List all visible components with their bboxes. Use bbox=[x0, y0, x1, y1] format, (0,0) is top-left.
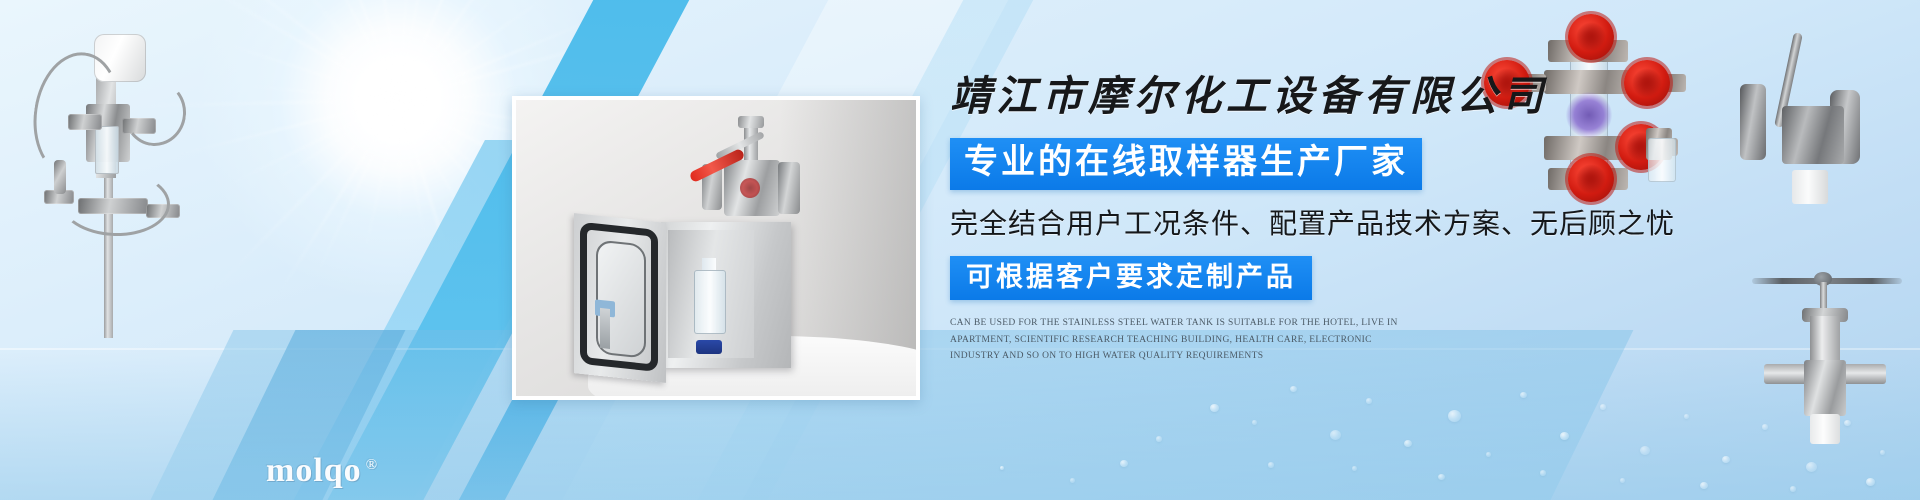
lever-valve-flange-left bbox=[1740, 84, 1766, 160]
lever-valve-body bbox=[1782, 106, 1844, 164]
water-droplet bbox=[1486, 452, 1491, 457]
gate-valve-body bbox=[1804, 360, 1846, 416]
water-droplet bbox=[1684, 414, 1689, 419]
sun-ray bbox=[277, 99, 400, 296]
sun-ray bbox=[398, 0, 488, 100]
sun-ray bbox=[317, 0, 400, 100]
handwheel-top bbox=[1568, 14, 1614, 60]
water-droplet bbox=[1330, 430, 1341, 440]
water-droplet bbox=[1156, 436, 1162, 442]
blue-bottle-cap bbox=[696, 340, 722, 354]
sun-ray bbox=[188, 0, 400, 101]
sun-ray bbox=[364, 100, 400, 254]
water-droplet bbox=[1620, 478, 1625, 483]
brand-watermark: molqo® bbox=[266, 452, 378, 490]
capillary-tube-right bbox=[121, 77, 190, 149]
sun-ray bbox=[398, 0, 434, 100]
sun-ray bbox=[203, 0, 400, 101]
capillary-tube-lower bbox=[59, 168, 171, 238]
sun-ray bbox=[211, 99, 400, 293]
valve-top-cap bbox=[738, 116, 764, 128]
sampler-collection-bottle bbox=[1648, 138, 1676, 182]
sun-ray bbox=[398, 100, 426, 239]
sun-ray bbox=[311, 0, 400, 100]
left-product-image bbox=[8, 18, 198, 318]
company-title: 靖江市摩尔化工设备有限公司 bbox=[950, 72, 1650, 121]
door-key bbox=[600, 308, 610, 349]
water-droplet bbox=[1600, 404, 1606, 410]
watermark-text: molqo bbox=[266, 452, 362, 489]
photo-content bbox=[516, 100, 916, 396]
water-droplet bbox=[1352, 466, 1357, 471]
sun-ray bbox=[300, 0, 399, 101]
water-droplet bbox=[1366, 398, 1372, 404]
cabinet-door bbox=[574, 213, 666, 383]
water-droplet bbox=[1000, 466, 1004, 470]
valve-logo-badge bbox=[740, 178, 760, 198]
water-droplet bbox=[1070, 478, 1075, 483]
center-product-photo bbox=[512, 96, 920, 400]
custom-product-badge: 可根据客户要求定制产品 bbox=[950, 256, 1312, 300]
english-caption: CAN BE USED FOR THE STAINLESS STEEL WATE… bbox=[950, 315, 1420, 365]
valve-flange-right bbox=[778, 162, 800, 214]
sun-ray bbox=[176, 99, 399, 156]
sun-ray bbox=[316, 100, 400, 276]
banner-text-block: 靖江市摩尔化工设备有限公司 专业的在线取样器生产厂家 完全结合用户工况条件、配置… bbox=[950, 72, 1650, 365]
water-droplet bbox=[1448, 410, 1461, 422]
water-droplet bbox=[1806, 462, 1817, 472]
sun-ray bbox=[398, 0, 410, 100]
sampling-valve-assembly bbox=[696, 116, 816, 226]
sun-ray bbox=[359, 0, 401, 100]
water-droplet bbox=[1252, 420, 1257, 425]
right-product-lever-valve bbox=[1706, 22, 1916, 222]
gate-valve-flange-right bbox=[1842, 364, 1886, 384]
lever-valve-outlet-cup bbox=[1792, 170, 1828, 204]
sun-ray bbox=[398, 0, 499, 101]
sub-headline: 完全结合用户工况条件、配置产品技术方案、无后顾之忧 bbox=[950, 206, 1650, 241]
gate-valve-flange-left bbox=[1764, 364, 1808, 384]
gate-valve-outlet bbox=[1810, 414, 1840, 444]
registered-mark: ® bbox=[366, 457, 378, 473]
sun-ray bbox=[218, 41, 399, 101]
sun-ray bbox=[227, 99, 400, 186]
sample-bottle bbox=[694, 270, 726, 334]
sun-ray bbox=[269, 99, 400, 185]
sun-ray bbox=[398, 100, 401, 220]
sun-ray bbox=[398, 0, 550, 101]
promo-banner: 靖江市摩尔化工设备有限公司 专业的在线取样器生产厂家 完全结合用户工况条件、配置… bbox=[0, 0, 1920, 500]
water-droplet bbox=[1790, 486, 1796, 492]
headline-badge: 专业的在线取样器生产厂家 bbox=[950, 138, 1422, 190]
sun-ray bbox=[247, 85, 400, 101]
water-droplet bbox=[1268, 462, 1274, 468]
water-droplet bbox=[1540, 470, 1546, 476]
sun-ray bbox=[398, 0, 552, 101]
right-product-gate-valve bbox=[1748, 276, 1918, 456]
gate-valve-bonnet bbox=[1810, 316, 1840, 364]
